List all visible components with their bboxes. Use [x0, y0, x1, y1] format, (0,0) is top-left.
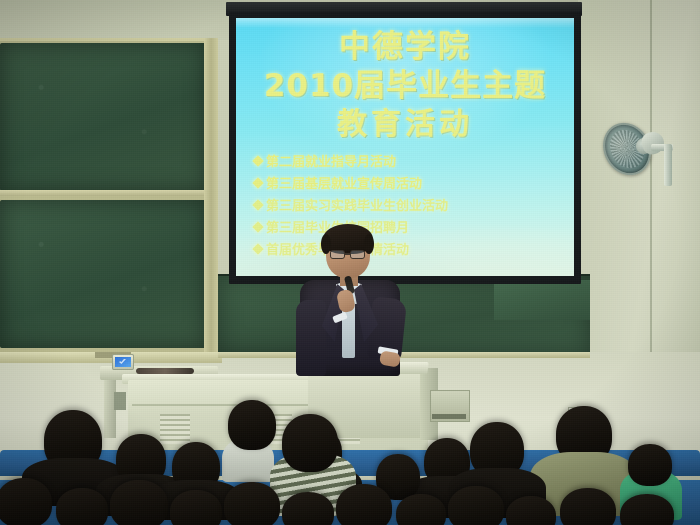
audience-head: [0, 478, 52, 525]
diamond-bullet-icon: [252, 221, 263, 232]
speaker-left-arm: [296, 300, 326, 376]
speaker: [292, 228, 410, 376]
audience-head: [170, 490, 222, 525]
audience-head: [560, 488, 616, 525]
slide-title-line-3: 教育活动: [242, 108, 568, 142]
diamond-bullet-icon: [252, 199, 263, 210]
diamond-bullet-icon: [252, 177, 263, 188]
audience-head: [282, 414, 338, 472]
right-wall: [578, 0, 700, 400]
wall-fan-icon: [604, 118, 674, 188]
blackboard-right-post: [204, 38, 218, 360]
blackboard-divider: [0, 190, 214, 196]
wall-corner-edge: [650, 0, 652, 400]
slide-bullet-item: 第三届基层就业宣传周活动: [254, 173, 568, 192]
bullet-text: 第三届实习实践毕业生创业活动: [266, 195, 448, 214]
blackboard-right-fragment: [494, 280, 590, 320]
eyeglasses-lens-right: [350, 250, 365, 259]
eyeglasses-lens-left: [330, 250, 345, 259]
audience-head: [110, 480, 168, 525]
bullet-text: 第二届就业指导月活动: [266, 151, 396, 170]
audience-head: [224, 482, 280, 525]
blackboard-left: [0, 38, 218, 360]
eyeglasses-bridge: [345, 253, 350, 255]
speaker-hair-side-right: [364, 234, 374, 254]
blackboard-panel-lower: [0, 200, 206, 348]
slide-bullet-item: 第三届实习实践毕业生创业活动: [254, 195, 568, 214]
audience-head: [396, 494, 446, 525]
audience-head: [336, 484, 392, 525]
slide-title-line-2: 2010届毕业生主题: [242, 69, 568, 104]
slide-bullet-item: 第二届就业指导月活动: [254, 151, 568, 170]
audience-head: [228, 400, 276, 450]
diamond-bullet-icon: [252, 155, 263, 166]
audience-head: [628, 444, 672, 486]
bullet-text: 第三届基层就业宣传周活动: [266, 173, 422, 192]
diamond-bullet-icon: [252, 243, 263, 254]
lecture-hall-photo: 中德学院 2010届毕业生主题 教育活动 第二届就业指导月活动 第三届基层就业宣…: [0, 0, 700, 525]
audience: [0, 392, 700, 525]
audience-head: [282, 492, 334, 525]
fan-wall-mount: [664, 144, 672, 186]
blackboard-panel-upper: [0, 43, 206, 191]
audience-head: [506, 496, 556, 525]
audience-head: [448, 486, 504, 525]
slide-title-line-1: 中德学院: [242, 30, 568, 65]
audience-head: [56, 488, 108, 525]
audience-head: [620, 494, 674, 525]
